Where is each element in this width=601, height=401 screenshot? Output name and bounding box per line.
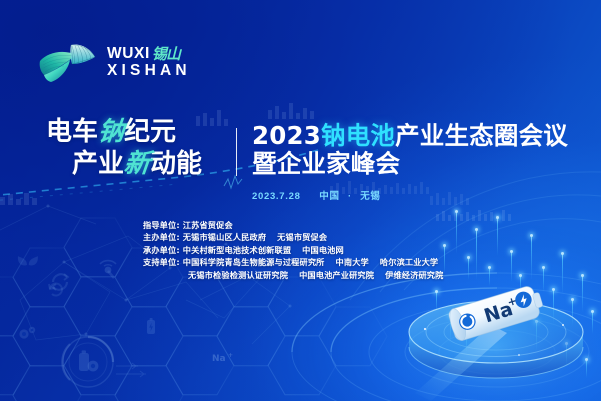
event-title-rest: 产业生态圈会议: [395, 121, 568, 150]
event-date: 2023.7.28: [252, 191, 301, 202]
event-title-line-1: 2023钠电池产业生态圈会议: [252, 122, 592, 150]
slogan-seg: 动能: [150, 151, 202, 177]
slogan-seg: 产业: [72, 151, 124, 177]
organizer-label: 主办单位:: [143, 231, 180, 243]
organizer-row-continuation: 无锡市检验检测认证研究院中国电池产业研究院伊维经济研究院: [143, 269, 473, 281]
organizer-values: 中国科学院青岛生物能源与过程研究所中南大学哈尔滨工业大学: [180, 256, 449, 268]
svg-text:Na: Na: [212, 354, 226, 364]
gear-icon: [19, 327, 35, 339]
slogan-seg-highlight: 钠: [97, 119, 126, 145]
organizer-item: 无锡市贸促会: [277, 232, 338, 242]
organizer-item: 中关村新型电池技术创新联盟: [183, 245, 302, 255]
organizer-item: 中国科学院青岛生物能源与过程研究所: [183, 257, 336, 267]
vertical-divider: [236, 128, 237, 176]
organizer-item: 中国电池产业研究院: [299, 270, 385, 280]
slogan-line-1: 电车 钠 纪元: [46, 119, 231, 145]
event-country: 中国: [319, 191, 339, 202]
wuxi-xishan-logo: WUXI 锡山 XISHAN: [38, 36, 188, 88]
slogan-block: 电车 钠 纪元 产业 新 动能: [46, 119, 231, 185]
battery-icon: [147, 318, 155, 334]
wuxi-xishan-fan-wave-logo-icon: [38, 39, 100, 85]
slogan-seg: 纪元: [124, 119, 176, 145]
organizer-row: 承办单位: 中关村新型电池技术创新联盟中国电池网: [143, 244, 473, 256]
slogan-line-2: 产业 新 动能: [46, 151, 231, 177]
leaf-icon: [18, 256, 38, 265]
organizer-item: 哈尔滨工业大学: [380, 257, 449, 267]
event-city: 无锡: [360, 191, 380, 202]
organizer-item: 中南大学: [336, 257, 380, 267]
organizer-label: 指导单位:: [143, 219, 180, 231]
slogan-seg: 电车: [46, 119, 98, 145]
date-separator: ·: [343, 191, 357, 202]
svg-text:+: +: [228, 352, 233, 359]
organizer-item: 无锡市检验检测认证研究院: [188, 270, 299, 280]
organizer-item: 中国电池网: [302, 245, 355, 255]
event-poster: Na +: [0, 0, 601, 401]
logo-chinese-text: 锡山: [152, 47, 180, 62]
organizer-values: 中关村新型电池技术创新联盟中国电池网: [180, 244, 355, 256]
logo-xishan-text: XISHAN: [107, 63, 191, 79]
hex-na-label: Na +: [212, 352, 233, 364]
organizer-values: 无锡市锡山区人民政府无锡市贸促会: [180, 231, 338, 243]
logo-wuxi-text: WUXI: [107, 46, 150, 62]
slogan-seg-highlight: 新: [123, 151, 152, 177]
refresh-icon: [49, 284, 62, 296]
organizer-row: 指导单位: 江苏省贸促会: [143, 219, 473, 231]
organizer-values: 江苏省贸促会: [180, 219, 244, 231]
sodium-battery-scene: Na +: [395, 285, 601, 401]
organizer-row: 主办单位: 无锡市锡山区人民政府无锡市贸促会: [143, 231, 473, 243]
recycle-icon: [52, 274, 68, 290]
event-title-line-2: 暨企业家峰会: [252, 150, 592, 178]
organizers-block: 指导单位: 江苏省贸促会 主办单位: 无锡市锡山区人民政府无锡市贸促会 承办单位…: [143, 219, 473, 281]
event-year: 2023: [252, 121, 321, 150]
organizer-label: 支持单位:: [143, 256, 180, 268]
logo-wordmark: WUXI 锡山 XISHAN: [107, 46, 191, 79]
organizer-label: 承办单位:: [143, 244, 180, 256]
organizer-item: 江苏省贸促会: [183, 220, 244, 230]
event-title-block: 2023钠电池产业生态圈会议 暨企业家峰会 2023.7.28 中国 · 无锡: [252, 122, 592, 202]
event-title-highlight: 钠电池: [321, 121, 395, 150]
signal-icon: [100, 261, 116, 278]
organizer-row: 支持单位: 中国科学院青岛生物能源与过程研究所中南大学哈尔滨工业大学: [143, 256, 473, 268]
organizer-item: 无锡市锡山区人民政府: [183, 232, 277, 242]
organizer-values: 无锡市检验检测认证研究院中国电池产业研究院伊维经济研究院: [143, 269, 454, 281]
organizer-item: 伊维经济研究院: [385, 270, 454, 280]
settings-gear-emblem-icon: [62, 337, 146, 387]
event-date-location: 2023.7.28 中国 · 无锡: [252, 188, 592, 202]
